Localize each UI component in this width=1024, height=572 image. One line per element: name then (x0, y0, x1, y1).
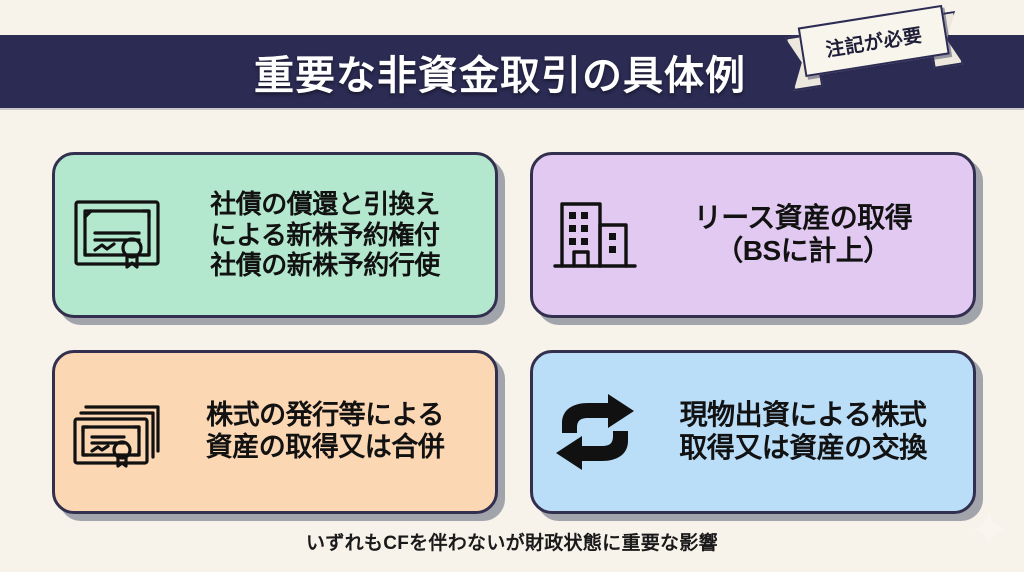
exchange-arrows-icon (543, 388, 647, 476)
card-asset-exchange[interactable]: 現物出資による株式 取得又は資産の交換 (530, 350, 976, 514)
card-bond-conversion[interactable]: 社債の償還と引換え による新株予約権付 社債の新株予約行使 (52, 152, 498, 318)
card-grid: 社債の償還と引換え による新株予約権付 社債の新株予約行使 (52, 152, 984, 512)
footer-note: いずれもCFを伴わないが財政状態に重要な影響 (0, 528, 1024, 555)
card-label: 現物出資による株式 取得又は資産の交換 (647, 399, 959, 465)
ribbon-body: 注記が必要 (798, 5, 950, 77)
card-lease-asset[interactable]: リース資産の取得 （BSに計上） (530, 152, 976, 318)
stacked-certificates-icon (65, 388, 169, 476)
card-label: リース資産の取得 （BSに計上） (647, 202, 959, 268)
office-building-icon (543, 191, 647, 279)
card-share-issuance[interactable]: 株式の発行等による 資産の取得又は合併 (52, 350, 498, 514)
ribbon-label: 注記が必要 (823, 20, 924, 62)
bond-certificate-icon (65, 191, 169, 279)
card-label: 社債の償還と引換え による新株予約権付 社債の新株予約行使 (169, 189, 481, 280)
slide-canvas: 重要な非資金取引の具体例 注記が必要 社債の償還と引換え (0, 0, 1024, 572)
card-label: 株式の発行等による 資産の取得又は合併 (169, 400, 481, 463)
